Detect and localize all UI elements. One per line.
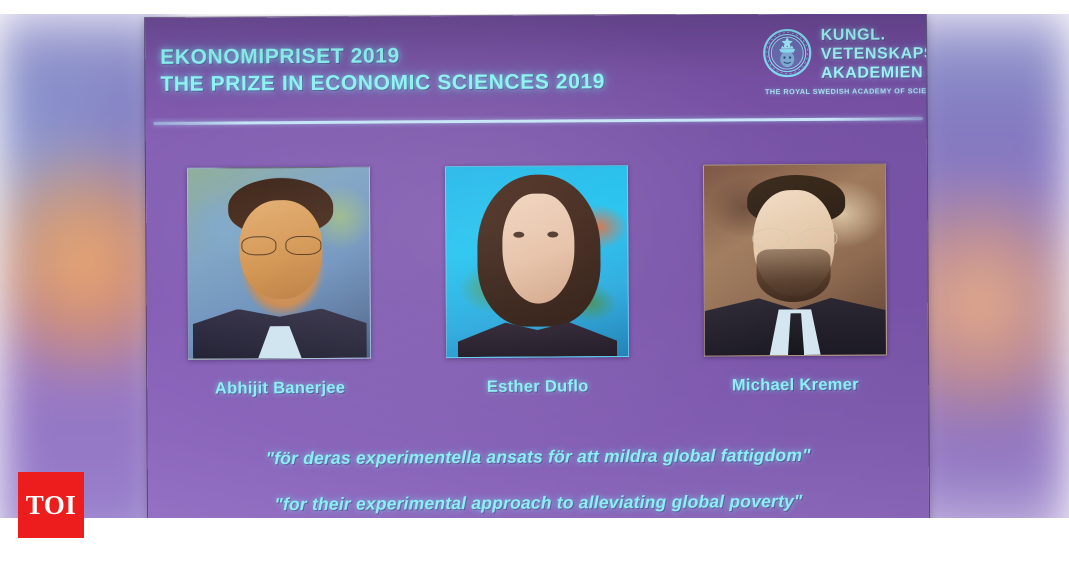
header-divider	[154, 117, 923, 124]
laureate-card-duflo: Esther Duflo	[436, 165, 637, 397]
academy-logo-text: KUNGL. VETENSKAPS AKADEMIEN THE ROYAL SW…	[821, 25, 930, 96]
academy-line-2: VETENSKAPS	[821, 44, 929, 64]
academy-line-1: KUNGL.	[821, 25, 930, 45]
portrait-michael-kremer	[703, 163, 887, 356]
laureate-card-kremer: Michael Kremer	[694, 163, 895, 395]
title-swedish: EKONOMIPRISET 2019	[160, 41, 605, 71]
laureate-card-banerjee: Abhijit Banerjee	[179, 167, 380, 399]
laureate-row: Abhijit Banerjee Esther Duflo Michael Kr…	[146, 163, 928, 399]
academy-line-3: AKADEMIEN	[821, 63, 929, 83]
slide-header: EKONOMIPRISET 2019 THE PRIZE IN ECONOMIC…	[145, 13, 927, 118]
laureate-name-duflo: Esther Duflo	[487, 377, 589, 397]
toi-watermark-label: TOI	[26, 490, 77, 521]
frame-band-bottom	[0, 518, 1069, 580]
citation-swedish: "för deras experimentella ansats för att…	[148, 431, 929, 482]
title-block: EKONOMIPRISET 2019 THE PRIZE IN ECONOMIC…	[160, 41, 605, 98]
title-english: THE PRIZE IN ECONOMIC SCIENCES 2019	[160, 68, 605, 98]
laureate-name-kremer: Michael Kremer	[732, 376, 859, 396]
screenshot-stage: EKONOMIPRISET 2019 THE PRIZE IN ECONOMIC…	[0, 0, 1069, 580]
royal-academy-seal-icon	[762, 28, 812, 78]
frame-band-top	[0, 0, 1069, 14]
presentation-screen: EKONOMIPRISET 2019 THE PRIZE IN ECONOMIC…	[145, 13, 929, 538]
portrait-abhijit-banerjee	[187, 167, 371, 360]
academy-logo: KUNGL. VETENSKAPS AKADEMIEN THE ROYAL SW…	[762, 23, 930, 96]
citation-block: "för deras experimentella ansats för att…	[148, 431, 930, 528]
portrait-esther-duflo	[445, 165, 629, 358]
academy-subtitle: THE ROYAL SWEDISH ACADEMY OF SCIENCES	[765, 86, 929, 96]
toi-watermark-logo: TOI	[18, 472, 84, 538]
laureate-name-banerjee: Abhijit Banerjee	[215, 379, 346, 399]
